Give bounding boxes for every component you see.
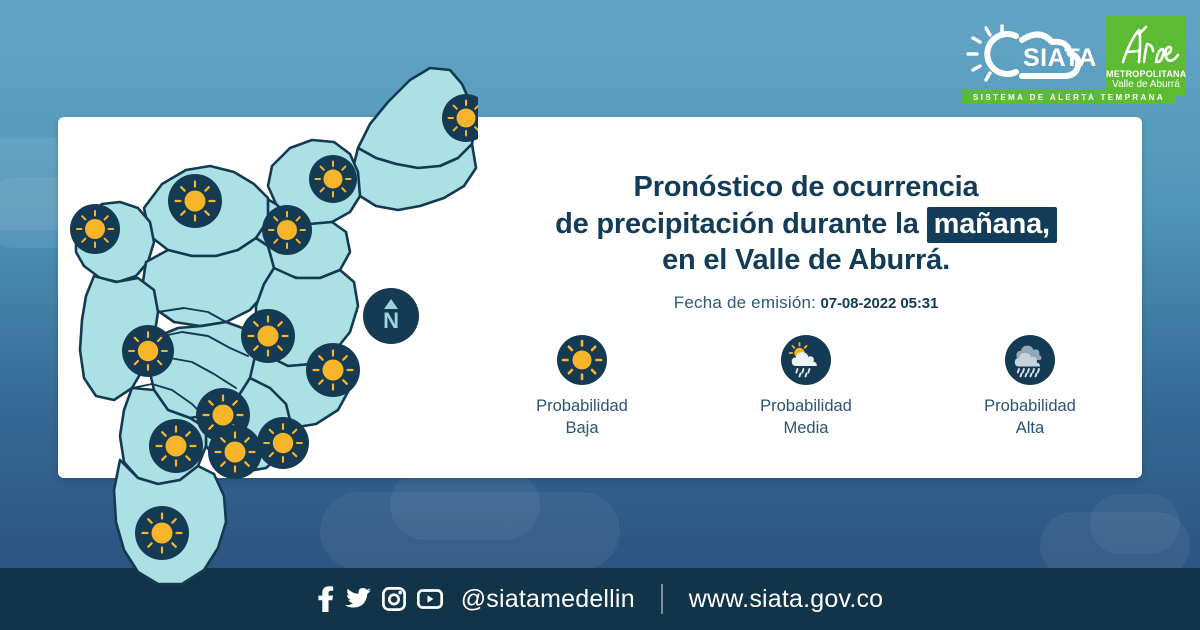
facebook-icon[interactable]: [317, 586, 334, 612]
sun-icon: [216, 433, 255, 472]
website-url[interactable]: www.siata.gov.co: [689, 585, 883, 614]
social-handle[interactable]: @siatamedellin: [461, 585, 635, 614]
legend-label-alta: Probabilidad Alta: [984, 396, 1076, 440]
siata-logo: SIATA: [960, 18, 1096, 92]
siata-wordmark: SIATA: [1023, 44, 1096, 72]
amva-subtitle: METROPOLITANA Valle de Aburrá: [1106, 70, 1186, 90]
sun-rain-icon: [781, 335, 831, 385]
title-line-1: Pronóstico de ocurrencia: [470, 169, 1142, 206]
legend-item-media: Probabilidad Media: [716, 335, 896, 440]
amva-line2: Valle de Aburrá: [1106, 80, 1186, 91]
footer-divider: [661, 584, 663, 614]
footer: @siatamedellin www.siata.gov.co: [0, 568, 1200, 630]
map-marker-copacabana[interactable]: [262, 205, 312, 255]
sun-icon: [557, 335, 607, 385]
map-marker-sabaneta[interactable]: [257, 417, 309, 469]
title-line-3: en el Valle de Aburrá.: [470, 242, 1142, 279]
amva-logo: METROPOLITANA Valle de Aburrá: [1106, 16, 1186, 96]
legend-label-media: Probabilidad Media: [760, 396, 852, 440]
sun-icon: [264, 424, 302, 462]
map-marker-guarne[interactable]: [306, 343, 360, 397]
legend-label-baja-line2: Baja: [536, 418, 628, 440]
sun-icon: [143, 514, 182, 553]
header-logos: SIATA METROPOLITANA Valle d: [950, 10, 1190, 106]
sun-icon: [249, 317, 288, 356]
youtube-icon[interactable]: [417, 589, 443, 609]
sun-icon: [269, 212, 305, 248]
map-marker-la-estrella[interactable]: [149, 419, 203, 473]
sun-icon: [129, 332, 167, 370]
title-line-2-prefix: de precipitación durante la: [555, 208, 919, 240]
page-title: Pronóstico de ocurrencia de precipitació…: [470, 169, 1142, 279]
legend-label-alta-line2: Alta: [984, 418, 1076, 440]
legend-label-baja-line1: Probabilidad: [536, 396, 628, 418]
amva-script-mark: [1106, 22, 1186, 70]
map-region: N: [58, 40, 478, 600]
issue-date: Fecha de emisión: 07-08-2022 05:31: [470, 293, 1142, 313]
probability-legend: Probabilidad Baja: [470, 335, 1142, 465]
sun-icon: [176, 182, 215, 221]
map-marker-girardota[interactable]: [309, 155, 357, 203]
instagram-icon[interactable]: [382, 587, 406, 611]
compass-rose: N: [363, 288, 419, 344]
title-highlight-manana: mañana,: [927, 207, 1057, 243]
legend-item-baja: Probabilidad Baja: [492, 335, 672, 440]
compass-north-label: N: [383, 308, 399, 333]
map-marker-envigado[interactable]: [208, 425, 262, 479]
siata-tagline-text: SISTEMA DE ALERTA TEMPRANA: [973, 93, 1165, 102]
map-marker-don-matias[interactable]: [168, 174, 222, 228]
map-marker-caldas[interactable]: [135, 506, 189, 560]
map-marker-san-pedro[interactable]: [70, 204, 120, 254]
forecast-panel: Pronóstico de ocurrencia de precipitació…: [470, 117, 1142, 478]
sun-icon: [157, 427, 196, 466]
legend-label-baja: Probabilidad Baja: [536, 396, 628, 440]
sun-icon: [77, 211, 113, 247]
map-marker-bello[interactable]: [241, 309, 295, 363]
legend-label-media-line2: Media: [760, 418, 852, 440]
siata-tagline: SISTEMA DE ALERTA TEMPRANA: [962, 90, 1176, 104]
issue-date-label: Fecha de emisión:: [674, 293, 816, 312]
infographic-canvas: SIATA METROPOLITANA Valle d: [0, 0, 1200, 630]
rain-cloud-icon: [1005, 335, 1055, 385]
twitter-icon[interactable]: [345, 587, 371, 611]
legend-label-alta-line1: Probabilidad: [984, 396, 1076, 418]
sun-icon: [316, 162, 351, 197]
social-icons: [317, 586, 443, 612]
legend-item-alta: Probabilidad Alta: [940, 335, 1120, 440]
issue-date-value: 07-08-2022 05:31: [821, 295, 939, 312]
sun-icon: [314, 351, 353, 390]
legend-label-media-line1: Probabilidad: [760, 396, 852, 418]
map-marker-medellin[interactable]: [122, 325, 174, 377]
title-line-2: de precipitación durante la mañana,: [470, 206, 1142, 243]
